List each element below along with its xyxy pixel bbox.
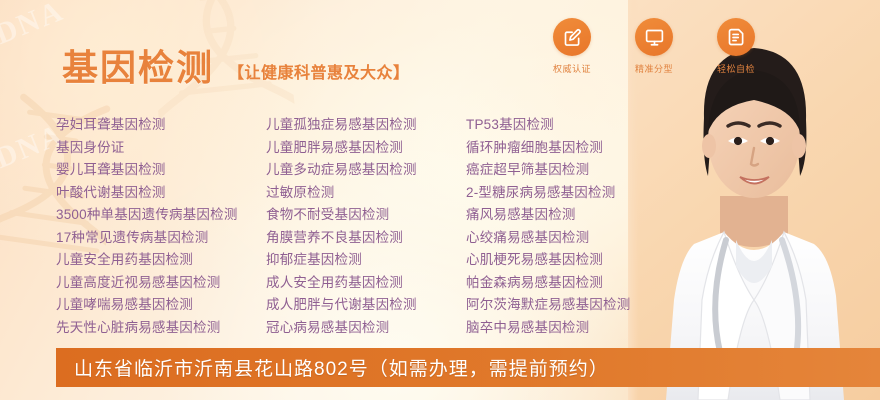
list-item[interactable]: 婴儿耳聋基因检测 bbox=[56, 159, 266, 182]
edit-document-icon bbox=[553, 18, 591, 56]
list-item[interactable]: 食物不耐受基因检测 bbox=[266, 204, 466, 227]
feature-badge-label: 精准分型 bbox=[625, 62, 683, 75]
list-item[interactable]: 阿尔茨海默症易感基因检测 bbox=[466, 294, 676, 317]
list-item[interactable]: 成人肥胖与代谢基因检测 bbox=[266, 294, 466, 317]
feature-badge-typing[interactable]: 精准分型 bbox=[625, 18, 683, 75]
report-icon bbox=[717, 18, 755, 56]
feature-badge-selfcheck[interactable]: 轻松自检 bbox=[707, 18, 765, 75]
monitor-icon bbox=[635, 18, 673, 56]
service-column-1: 孕妇耳聋基因检测 基因身份证 婴儿耳聋基因检测 叶酸代谢基因检测 3500种单基… bbox=[56, 114, 266, 339]
service-list-columns: 孕妇耳聋基因检测 基因身份证 婴儿耳聋基因检测 叶酸代谢基因检测 3500种单基… bbox=[56, 114, 676, 339]
banner-heading: 基因检测 【让健康科普惠及大众】 bbox=[62, 50, 410, 86]
list-item[interactable]: 先天性心脏病易感基因检测 bbox=[56, 317, 266, 340]
list-item[interactable]: 痛风易感基因检测 bbox=[466, 204, 676, 227]
feature-badges: 权威认证 精准分型 轻松自检 bbox=[543, 18, 765, 75]
feature-badge-authority[interactable]: 权威认证 bbox=[543, 18, 601, 75]
list-item[interactable]: 儿童孤独症易感基因检测 bbox=[266, 114, 466, 137]
list-item[interactable]: 17种常见遗传病基因检测 bbox=[56, 227, 266, 250]
list-item[interactable]: 基因身份证 bbox=[56, 137, 266, 160]
list-item[interactable]: 角膜营养不良基因检测 bbox=[266, 227, 466, 250]
list-item[interactable]: 2-型糖尿病易感基因检测 bbox=[466, 182, 676, 205]
list-item[interactable]: TP53基因检测 bbox=[466, 114, 676, 137]
service-column-2: 儿童孤独症易感基因检测 儿童肥胖易感基因检测 儿童多动症易感基因检测 过敏原检测… bbox=[266, 114, 466, 339]
list-item[interactable]: 过敏原检测 bbox=[266, 182, 466, 205]
list-item[interactable]: 叶酸代谢基因检测 bbox=[56, 182, 266, 205]
list-item[interactable]: 脑卒中易感基因检测 bbox=[466, 317, 676, 340]
address-banner: 山东省临沂市沂南县花山路802号（如需办理，需提前预约） bbox=[56, 348, 880, 387]
list-item[interactable]: 儿童安全用药基因检测 bbox=[56, 249, 266, 272]
service-column-3: TP53基因检测 循环肿瘤细胞基因检测 癌症超早筛基因检测 2-型糖尿病易感基因… bbox=[466, 114, 676, 339]
list-item[interactable]: 儿童肥胖易感基因检测 bbox=[266, 137, 466, 160]
address-text: 山东省临沂市沂南县花山路802号（如需办理，需提前预约） bbox=[56, 354, 609, 381]
list-item[interactable]: 循环肿瘤细胞基因检测 bbox=[466, 137, 676, 160]
list-item[interactable]: 孕妇耳聋基因检测 bbox=[56, 114, 266, 137]
list-item[interactable]: 儿童哮喘易感基因检测 bbox=[56, 294, 266, 317]
page-subtitle: 【让健康科普惠及大众】 bbox=[228, 59, 410, 86]
list-item[interactable]: 心肌梗死易感基因检测 bbox=[466, 249, 676, 272]
page-title: 基因检测 bbox=[62, 50, 214, 86]
list-item[interactable]: 抑郁症基因检测 bbox=[266, 249, 466, 272]
feature-badge-label: 权威认证 bbox=[543, 62, 601, 75]
list-item[interactable]: 癌症超早筛基因检测 bbox=[466, 159, 676, 182]
list-item[interactable]: 冠心病易感基因检测 bbox=[266, 317, 466, 340]
feature-badge-label: 轻松自检 bbox=[707, 62, 765, 75]
list-item[interactable]: 儿童高度近视易感基因检测 bbox=[56, 272, 266, 295]
list-item[interactable]: 心绞痛易感基因检测 bbox=[466, 227, 676, 250]
list-item[interactable]: 3500种单基因遗传病基因检测 bbox=[56, 204, 266, 227]
list-item[interactable]: 成人安全用药基因检测 bbox=[266, 272, 466, 295]
list-item[interactable]: 帕金森病易感基因检测 bbox=[466, 272, 676, 295]
list-item[interactable]: 儿童多动症易感基因检测 bbox=[266, 159, 466, 182]
promo-banner: DNA DNA DNA DNA bbox=[0, 0, 880, 400]
